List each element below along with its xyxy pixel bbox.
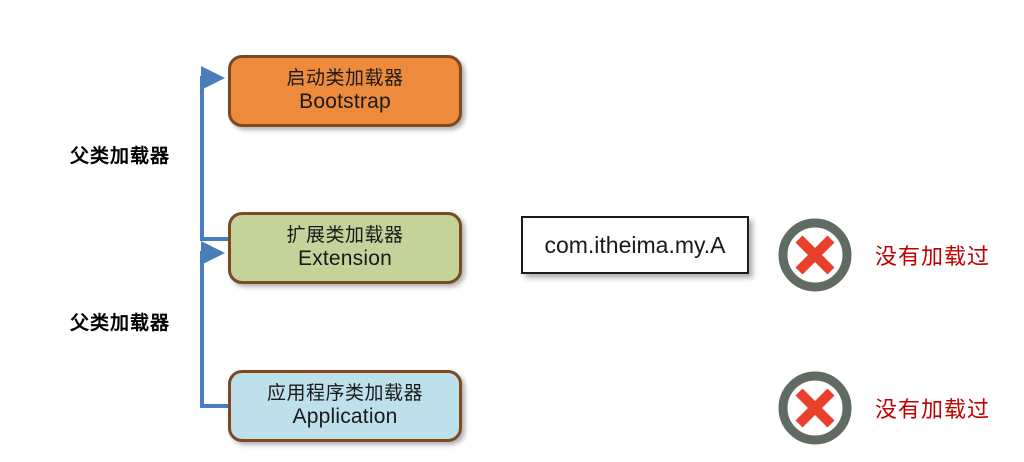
- status-text-extension: 没有加载过: [875, 239, 990, 271]
- side-label-parent-loader-lower: 父类加载器: [70, 308, 170, 335]
- arrow-application-to-extension: [202, 253, 228, 406]
- loader-box-bootstrap[interactable]: 启动类加载器 Bootstrap: [228, 55, 462, 127]
- circle-x-icon: [777, 217, 853, 293]
- loader-box-application-en-label: Application: [293, 405, 398, 429]
- circle-x-icon: [777, 370, 853, 446]
- class-name-box[interactable]: com.itheima.my.A: [521, 216, 749, 274]
- diagram-canvas: 启动类加载器 Bootstrap 扩展类加载器 Extension 应用程序类加…: [0, 0, 1024, 462]
- loader-box-extension-en-label: Extension: [298, 247, 392, 271]
- class-name-text: com.itheima.my.A: [544, 232, 725, 259]
- loader-box-application[interactable]: 应用程序类加载器 Application: [228, 370, 462, 442]
- status-row-extension: 没有加载过: [777, 217, 990, 293]
- loader-box-application-cn-label: 应用程序类加载器: [267, 383, 423, 405]
- loader-box-bootstrap-cn-label: 启动类加载器: [286, 68, 403, 90]
- status-row-application: 没有加载过: [777, 370, 990, 446]
- status-text-application: 没有加载过: [875, 392, 990, 424]
- loader-box-extension-cn-label: 扩展类加载器: [286, 225, 403, 247]
- side-label-parent-loader-upper: 父类加载器: [70, 141, 170, 168]
- loader-box-extension[interactable]: 扩展类加载器 Extension: [228, 212, 462, 284]
- arrow-extension-to-bootstrap: [202, 78, 228, 239]
- loader-box-bootstrap-en-label: Bootstrap: [299, 90, 391, 114]
